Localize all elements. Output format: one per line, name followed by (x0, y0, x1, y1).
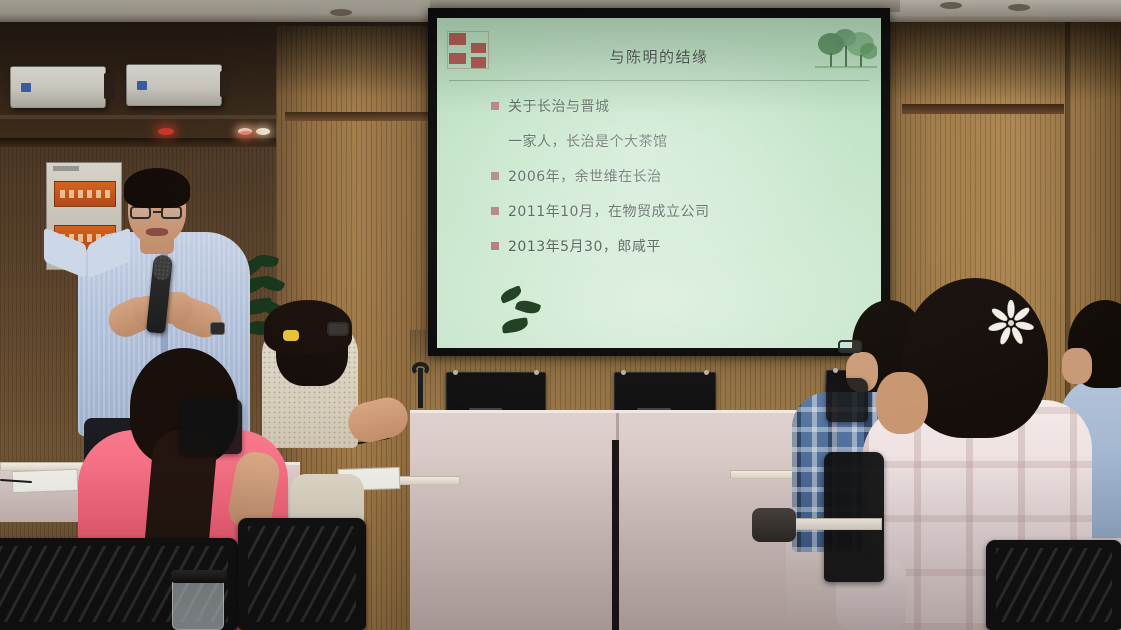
chair-mid-left (180, 398, 242, 454)
bullet-square-icon (491, 102, 499, 110)
yellow-hair-clip (283, 330, 299, 341)
slide-bullet-3: 2006年，余世维在长治 (491, 166, 871, 186)
wall-left-trim-band (0, 138, 300, 147)
ceiling-red-light-2 (238, 131, 254, 138)
bullet-spacer (491, 137, 499, 145)
potted-plant-secondary (500, 285, 548, 365)
wall-speaker-left (10, 66, 106, 108)
speaker-brand-mark (137, 81, 147, 90)
slide-bullet-1: 关于长治与晋城 (491, 96, 871, 116)
presenter-mouth (146, 228, 168, 236)
slide-bullet-2: 一家人，长治是个大茶馆 (491, 131, 871, 151)
glasses-lens (327, 322, 349, 336)
presenter-wristwatch (210, 322, 225, 335)
flower-hair-pin-icon (988, 300, 1034, 346)
chair-front-left-2 (238, 518, 366, 630)
slide-bullet-1-text: 关于长治与晋城 (508, 96, 610, 116)
door-panel-trim (285, 112, 438, 121)
shoulder-bag (752, 508, 796, 542)
slide-title-divider (449, 80, 869, 81)
wall-right-trim-band (902, 104, 1064, 114)
slide-bullet-2-text: 一家人，长治是个大茶馆 (508, 131, 668, 151)
desk-panel-gap (612, 440, 619, 630)
seminar-room-photo: 与陈明的结缘 关于长治与晋城 一家人，长治是个大茶馆 2006年，余世维在长治 … (0, 0, 1121, 630)
bullet-square-icon (491, 207, 499, 215)
flower-ear (876, 372, 928, 434)
ceiling-red-light (158, 128, 174, 135)
slide-bullet-3-text: 2006年，余世维在长治 (508, 166, 662, 186)
blue-ear (1062, 348, 1092, 384)
glass-jar-lid (171, 570, 227, 583)
ceiling-vent-3 (940, 2, 962, 9)
glasses-lens (838, 340, 862, 353)
wall-right-upper-shadow (880, 22, 1121, 100)
chair-slat-pattern (248, 526, 356, 622)
wall-speaker-right (126, 64, 222, 106)
water-glass-jar (172, 578, 224, 630)
chair-right-front (986, 540, 1121, 630)
ceiling-vent-1 (330, 9, 352, 16)
speaker-brand-mark (21, 83, 31, 92)
bullet-square-icon (491, 242, 499, 250)
speaker-bracket (220, 71, 230, 97)
notice-board-header-label (53, 166, 79, 171)
slide-bullet-4-text: 2011年10月，在物贸成立公司 (508, 201, 709, 221)
slide-bullet-5-text: 2013年5月30，郎咸平 (508, 236, 661, 256)
chair-slat-pattern (996, 548, 1112, 622)
door-panel-shadow (276, 26, 438, 96)
screen-hook-head (412, 362, 429, 376)
desk-ledge-center-left (392, 476, 460, 485)
speaker-bracket (104, 73, 114, 99)
notice-plate-1-text (60, 190, 110, 198)
glasses-bridge (153, 211, 161, 213)
desk-ledge-right-front (786, 518, 882, 530)
presenter-hair (124, 168, 190, 208)
slide-title: 与陈明的结缘 (437, 46, 881, 67)
microphone-grille (153, 255, 172, 281)
slide-bullet-4: 2011年10月，在物贸成立公司 (491, 201, 871, 221)
notice-plate-1 (54, 181, 116, 207)
chair-right-mid (824, 452, 884, 582)
slide-bullet-5: 2013年5月30，郎咸平 (491, 236, 871, 256)
bullet-square-icon (491, 172, 499, 180)
front-desk-panel-center (410, 410, 800, 630)
ceiling-spotlight-2 (256, 128, 270, 135)
slide-body: 关于长治与晋城 一家人，长治是个大茶馆 2006年，余世维在长治 2011年10… (491, 96, 871, 271)
chair-right-rear (826, 378, 868, 422)
ceiling-vent-2 (1008, 4, 1030, 11)
